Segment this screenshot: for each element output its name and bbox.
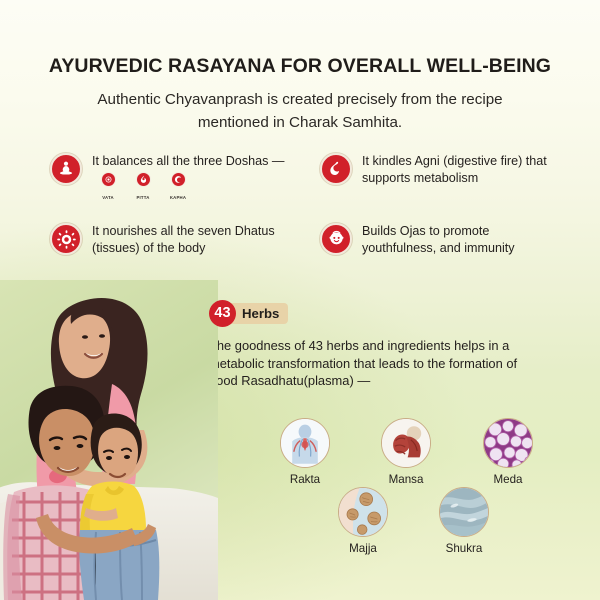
herbs-count: 43 bbox=[209, 300, 236, 327]
kapha-water-icon bbox=[171, 172, 186, 187]
dosha-label-pitta: PITTA bbox=[136, 195, 149, 200]
dhatu-label-shukra: Shukra bbox=[428, 542, 500, 555]
circulatory-system-icon bbox=[280, 418, 330, 468]
poster-root: AYURVEDIC RASAYANA FOR OVERALL WELL-BEIN… bbox=[0, 0, 600, 600]
dosha-badge-pitta: PITTA bbox=[130, 172, 156, 207]
dhatu-label-meda: Meda bbox=[472, 473, 544, 486]
herbs-badge: 43 Herbs bbox=[209, 300, 288, 326]
reproductive-fluid-icon bbox=[439, 487, 489, 537]
dhatu-item-majja: Majja bbox=[327, 487, 399, 555]
bone-marrow-icon bbox=[338, 487, 388, 537]
pitta-fire-icon bbox=[136, 172, 151, 187]
herbs-description: The goodness of 43 herbs and ingredients… bbox=[209, 337, 549, 390]
family-photo bbox=[0, 280, 218, 600]
dhatu-label-mansa: Mansa bbox=[370, 473, 442, 486]
benefits-grid: It balances all the three Doshas — VATA bbox=[50, 152, 560, 256]
dhatu-item-meda: Meda bbox=[472, 418, 544, 486]
muscle-flex-icon bbox=[381, 418, 431, 468]
dosha-badges: VATA PITTA bbox=[95, 172, 191, 207]
meditating-figure-icon bbox=[50, 153, 82, 185]
benefit-text-doshas: It balances all the three Doshas — VATA bbox=[92, 152, 320, 204]
dhatu-label-rakta: Rakta bbox=[269, 473, 341, 486]
page-subtitle: Authentic Chyavanprash is created precis… bbox=[60, 88, 540, 134]
dosha-label-kapha: KAPHA bbox=[170, 195, 186, 200]
benefits-row-2: It nourishes all the seven Dhatus (tissu… bbox=[50, 222, 560, 256]
dhatu-item-rakta: Rakta bbox=[269, 418, 341, 486]
dhatu-item-mansa: Mansa bbox=[370, 418, 442, 486]
stomach-digestive-fire-icon bbox=[320, 153, 352, 185]
vata-air-icon bbox=[101, 172, 116, 187]
child-face-icon bbox=[320, 223, 352, 255]
dosha-badge-vata: VATA bbox=[95, 172, 121, 207]
cell-nourishment-icon bbox=[50, 223, 82, 255]
dhatu-item-shukra: Shukra bbox=[428, 487, 500, 555]
benefit-item-agni: It kindles Agni (digestive fire) that su… bbox=[320, 152, 560, 204]
benefit-text-dhatus: It nourishes all the seven Dhatus (tissu… bbox=[92, 222, 320, 256]
benefit-label-doshas: It balances all the three Doshas — bbox=[92, 154, 285, 168]
benefit-text-ojas: Builds Ojas to promote youthfulness, and… bbox=[362, 222, 560, 256]
page-title: AYURVEDIC RASAYANA FOR OVERALL WELL-BEIN… bbox=[0, 55, 600, 78]
dosha-label-vata: VATA bbox=[102, 195, 114, 200]
benefit-item-doshas: It balances all the three Doshas — VATA bbox=[50, 152, 320, 204]
benefit-item-dhatus: It nourishes all the seven Dhatus (tissu… bbox=[50, 222, 320, 256]
benefits-row-1: It balances all the three Doshas — VATA bbox=[50, 152, 560, 204]
dosha-badge-kapha: KAPHA bbox=[165, 172, 191, 207]
benefit-text-agni: It kindles Agni (digestive fire) that su… bbox=[362, 152, 560, 186]
benefit-item-ojas: Builds Ojas to promote youthfulness, and… bbox=[320, 222, 560, 256]
fat-cells-icon bbox=[483, 418, 533, 468]
dhatu-label-majja: Majja bbox=[327, 542, 399, 555]
